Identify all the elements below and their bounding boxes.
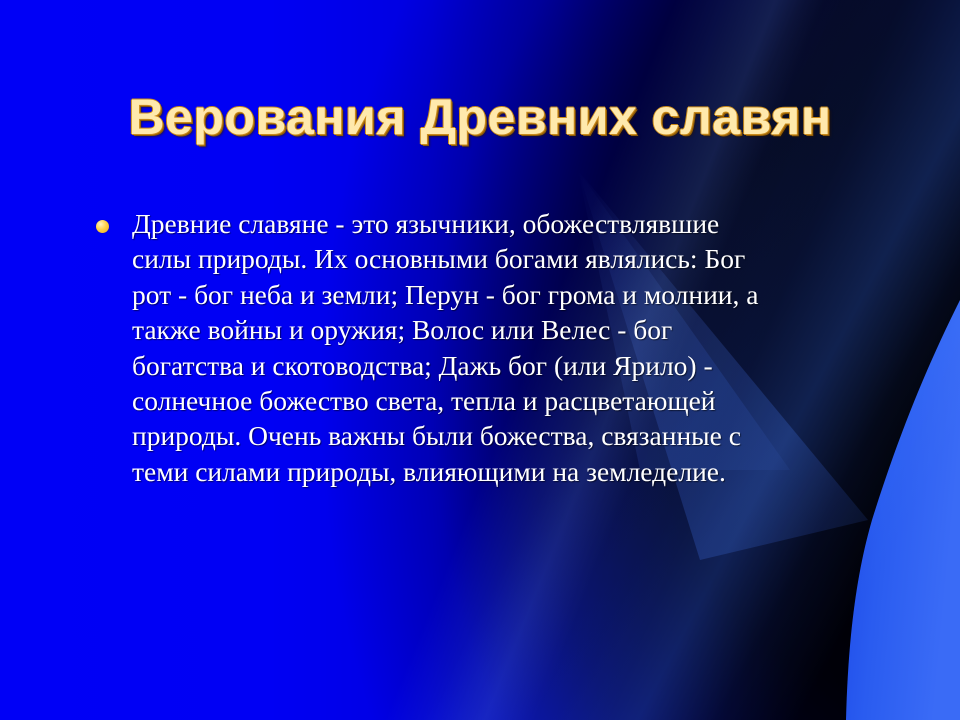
body-line: силы природы. Их основными богами являли… xyxy=(132,241,876,276)
bullet-point-icon xyxy=(96,220,109,233)
body-line: Древние славяне - это язычники, обожеств… xyxy=(132,206,876,241)
body-line: теми силами природы, влияющими на землед… xyxy=(132,454,876,489)
slide-body: Древние славяне - это язычники, обожеств… xyxy=(96,206,876,489)
body-line: природы. Очень важны были божества, связ… xyxy=(132,418,876,453)
body-line: солнечное божество света, тепла и расцве… xyxy=(132,383,876,418)
bullet-paragraph: Древние славяне - это язычники, обожеств… xyxy=(132,206,876,489)
list-item: Древние славяне - это язычники, обожеств… xyxy=(96,206,876,489)
page-title: Верования Древних славян xyxy=(0,88,960,146)
body-line: рот - бог неба и земли; Перун - бог гром… xyxy=(132,277,876,312)
body-line: также войны и оружия; Волос или Велес - … xyxy=(132,312,876,347)
body-line: богатства и скотоводства; Дажь бог (или … xyxy=(132,348,876,383)
presentation-slide: Верования Древних славян Древние славяне… xyxy=(0,0,960,720)
